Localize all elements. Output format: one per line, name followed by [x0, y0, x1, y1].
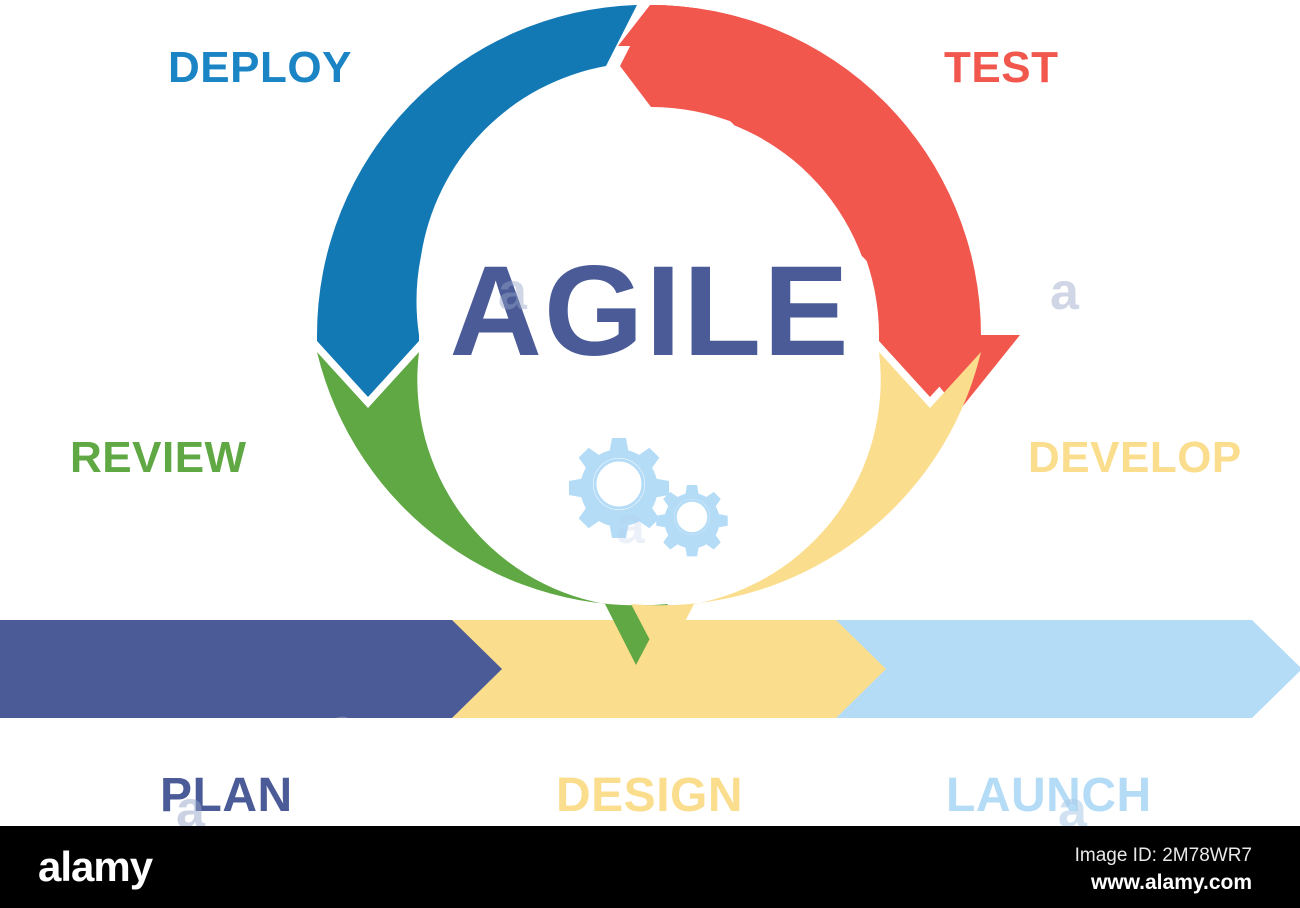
diagram-canvas: alamy a: [0, 0, 1300, 826]
alamy-logo: alamy: [38, 846, 152, 888]
agile-infographic: alamy a: [0, 0, 1300, 908]
bar-stage-launch: [836, 620, 1300, 718]
image-id-label: Image ID: 2M78WR7: [1075, 846, 1252, 865]
bar-label-plan: PLAN: [160, 772, 293, 820]
page-title: AGILE: [0, 248, 1300, 376]
alamy-url-label: www.alamy.com: [1091, 872, 1252, 893]
alamy-footer-bar: alamy Image ID: 2M78WR7 www.alamy.com: [0, 826, 1300, 908]
bar-stage-plan: [0, 620, 510, 718]
ring-label-develop: DEVELOP: [1028, 436, 1242, 480]
ring-label-deploy: DEPLOY: [168, 46, 352, 90]
ring-label-review: REVIEW: [70, 436, 247, 480]
bar-label-design: DESIGN: [556, 772, 743, 820]
bar-label-launch: LAUNCH: [946, 772, 1152, 820]
ring-label-test: TEST: [944, 46, 1058, 90]
